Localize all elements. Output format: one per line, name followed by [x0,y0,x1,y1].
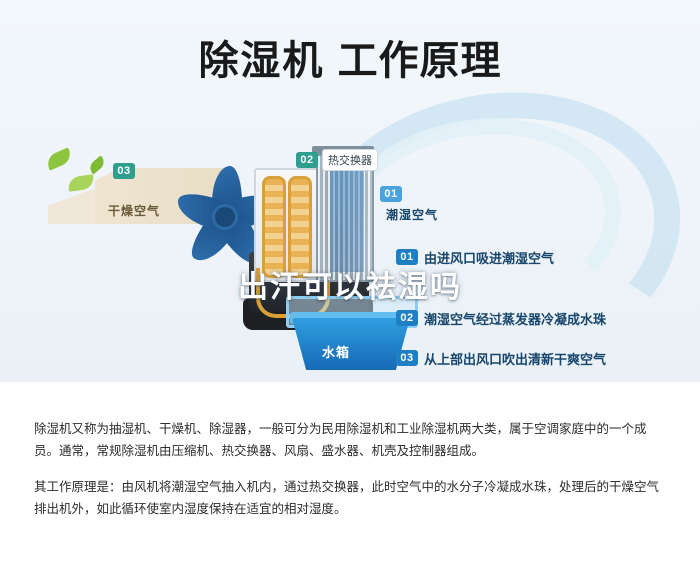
step-text-02: 潮湿空气经过蒸发器冷凝成水珠 [424,309,606,328]
page-root: 除湿机 工作原理 03 干燥空气 02 [0,0,700,566]
moist-air-label: 潮湿空气 [386,206,438,223]
water-tank-label: 水箱 [322,342,350,361]
watermark-title: 出汗可以祛湿吗 [0,262,700,306]
dry-air-label: 干燥空气 [108,202,160,219]
illustration-panel: 除湿机 工作原理 03 干燥空气 02 [0,0,700,400]
leaf-icon [44,147,73,170]
article-paragraph-2: 其工作原理是：由风机将潮湿空气抽入机内，通过热交换器，此时空气中的水分子冷凝成水… [34,476,670,520]
badge-03: 03 [113,163,135,179]
leaf-icon [87,155,107,174]
heat-exchanger-label: 热交换器 [322,149,378,171]
page-title-part1: 除湿机 [198,39,324,83]
badge-01: 01 [380,186,402,202]
page-title: 除湿机 工作原理 [0,28,700,86]
page-title-part2: 工作原理 [338,38,502,83]
step-badge-02: 02 [396,310,418,326]
water-tank [292,318,410,370]
cold-air-panel [330,160,364,272]
illustration-bottom-strip [0,382,700,400]
badge-02: 02 [296,152,318,168]
article-paragraph-1: 除湿机又称为抽湿机、干燥机、除湿器，一般可分为民用除湿机和工业除湿机两大类，属于… [34,418,670,462]
step-text-03: 从上部出风口吹出清新干爽空气 [424,349,606,368]
article-body: 除湿机又称为抽湿机、干燥机、除湿器，一般可分为民用除湿机和工业除湿机两大类，属于… [34,418,670,520]
leaf-icon [67,174,95,191]
step-badge-03: 03 [396,350,418,366]
